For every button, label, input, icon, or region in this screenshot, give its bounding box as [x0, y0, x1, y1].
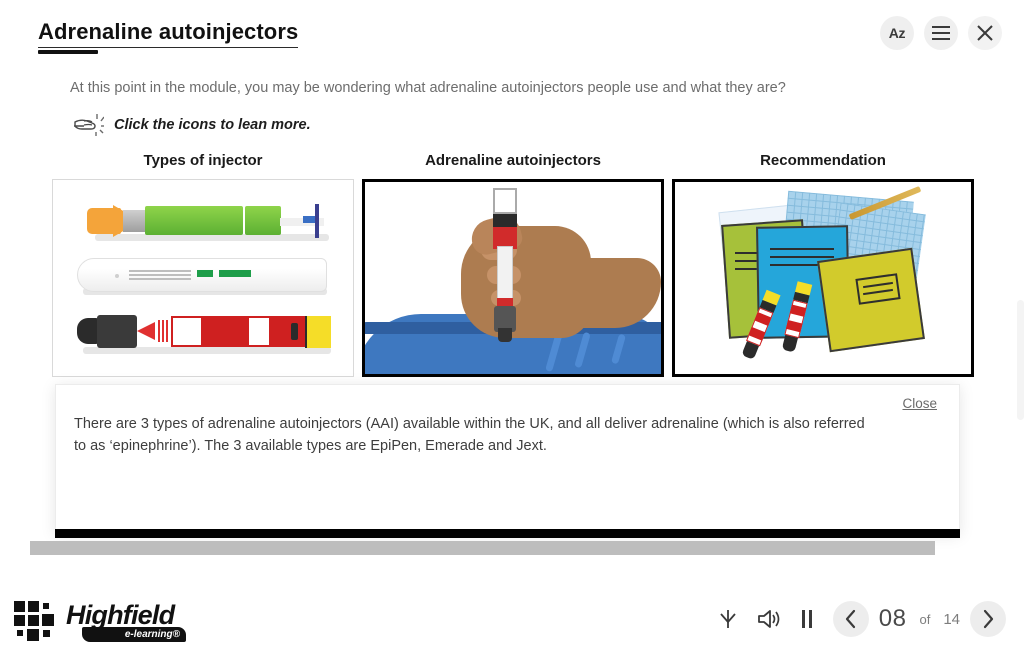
- pager: 08 of 14: [833, 601, 1006, 637]
- brand-wordmark: Highfield e-learning®: [66, 600, 186, 642]
- close-button[interactable]: [968, 16, 1002, 50]
- transcript-button[interactable]: [717, 608, 739, 630]
- hand-injection-illustration: [365, 182, 661, 374]
- highfield-grid-icon: [14, 601, 58, 641]
- card-recommendation[interactable]: Recommendation: [672, 152, 974, 377]
- page-title: Adrenaline autoinjectors: [38, 19, 298, 48]
- school-books-illustration: [675, 182, 971, 374]
- elearning-slide: Adrenaline autoinjectors Az At thi: [0, 0, 1024, 657]
- panel-body-text: There are 3 types of adrenaline autoinje…: [74, 413, 874, 458]
- horizontal-scrollbar[interactable]: [30, 541, 935, 555]
- card-adrenaline-autoinjectors[interactable]: Adrenaline autoinjectors: [362, 152, 664, 377]
- next-page-button[interactable]: [970, 601, 1006, 637]
- intro-paragraph: At this point in the module, you may be …: [70, 78, 950, 98]
- speaker-icon: [757, 608, 781, 630]
- card-group: Types of injector: [52, 152, 972, 377]
- header-button-group: Az: [880, 16, 1002, 50]
- brand-logo: Highfield e-learning®: [14, 600, 186, 642]
- autoinjector-pens-illustration: [69, 196, 337, 360]
- content-panel: Close There are 3 types of adrenaline au…: [55, 384, 960, 534]
- pointer-arrow-icon: [717, 608, 739, 630]
- pager-of-label: of: [919, 612, 930, 627]
- card-image-adrenaline-autoinjectors[interactable]: [362, 179, 664, 377]
- panel-close-link[interactable]: Close: [902, 396, 937, 411]
- panel-bottom-bar: [55, 529, 960, 538]
- hint-text: Click the icons to lean more.: [114, 117, 311, 133]
- card-title: Types of injector: [52, 152, 354, 172]
- next-page-icon: [980, 609, 996, 629]
- total-pages: 14: [943, 611, 960, 628]
- title-accent-underline: [38, 50, 98, 54]
- vertical-scrollbar[interactable]: [1017, 300, 1024, 420]
- jext-pen-icon: [77, 314, 331, 354]
- volume-button[interactable]: [757, 608, 781, 630]
- card-types-of-injector[interactable]: Types of injector: [52, 152, 354, 377]
- glossary-button[interactable]: Az: [880, 16, 914, 50]
- current-page-number: 08: [879, 605, 907, 633]
- glossary-icon: Az: [889, 25, 906, 41]
- epipen-pen-icon: [87, 202, 319, 238]
- close-icon: [975, 23, 995, 43]
- player-controls: 08 of 14: [717, 601, 1006, 637]
- header: Adrenaline autoinjectors Az: [0, 0, 1024, 62]
- card-image-types-of-injector[interactable]: [52, 179, 354, 377]
- previous-page-icon: [843, 609, 859, 629]
- pointing-hand-click-icon: [72, 112, 104, 138]
- card-title: Recommendation: [672, 152, 974, 172]
- card-image-recommendation[interactable]: [672, 179, 974, 377]
- hint-row: Click the icons to lean more.: [72, 112, 311, 138]
- menu-button[interactable]: [924, 16, 958, 50]
- autoinjector-in-hand-icon: [493, 188, 517, 348]
- brand-subtitle: e-learning®: [82, 627, 186, 642]
- card-title: Adrenaline autoinjectors: [362, 152, 664, 172]
- pause-button[interactable]: [799, 608, 815, 630]
- emerade-pen-icon: [77, 256, 329, 296]
- footer: Highfield e-learning®: [0, 582, 1024, 657]
- hamburger-icon: [932, 26, 950, 40]
- pause-icon: [799, 608, 815, 630]
- previous-page-button[interactable]: [833, 601, 869, 637]
